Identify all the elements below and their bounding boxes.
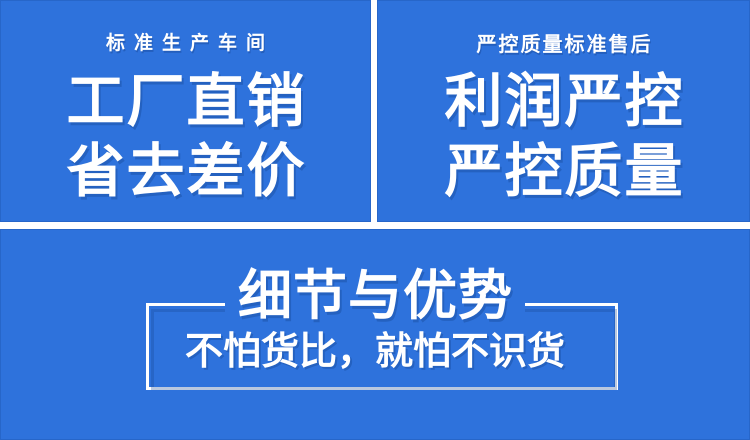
headline-quality-control: 严控质量 xyxy=(442,143,684,201)
eyebrow-standard-workshop: 标准生产车间 xyxy=(97,28,274,55)
heading-details-advantages: 细节与优势 xyxy=(0,269,750,323)
panel-details-advantages: 细节与优势 不怕货比，就怕不识货 xyxy=(0,229,750,440)
panel-quality-control-content: 严控质量标准售后 利润严控 严控质量 xyxy=(377,0,750,222)
headline-factory-direct: 工厂直销 xyxy=(64,73,306,131)
headline-profit-control: 利润严控 xyxy=(442,73,684,131)
panel-factory-direct: 标准生产车间 工厂直销 省去差价 xyxy=(0,0,371,222)
eyebrow-quality-standard-aftersales: 严控质量标准售后 xyxy=(475,28,653,57)
panel-factory-direct-content: 标准生产车间 工厂直销 省去差价 xyxy=(0,0,371,222)
promo-banner: 标准生产车间 工厂直销 省去差价 严控质量标准售后 利润严控 严控质量 细节与优… xyxy=(0,0,750,440)
panel-quality-control: 严控质量标准售后 利润严控 严控质量 xyxy=(377,0,750,222)
subheading-compare-goods: 不怕货比，就怕不识货 xyxy=(0,333,750,371)
headline-save-markup: 省去差价 xyxy=(64,143,306,201)
